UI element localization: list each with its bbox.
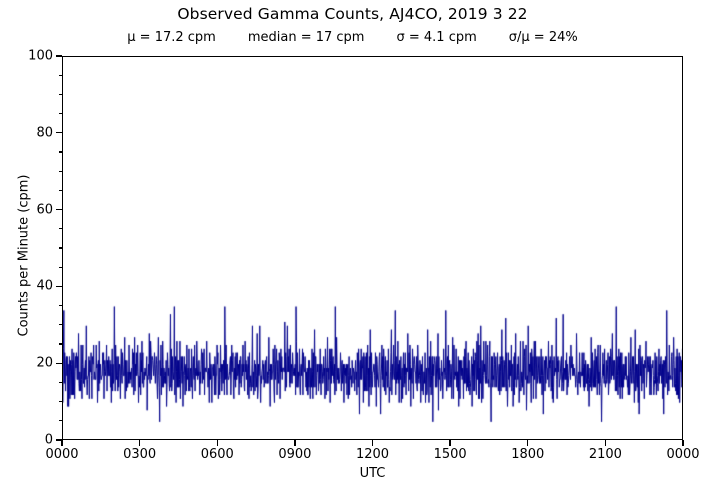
y-tick-minor bbox=[59, 113, 63, 114]
y-tick-major bbox=[56, 363, 62, 364]
chart-title: Observed Gamma Counts, AJ4CO, 2019 3 22 bbox=[0, 5, 705, 23]
y-tick-minor bbox=[59, 94, 63, 95]
x-tick-label: 1800 bbox=[511, 447, 544, 462]
y-tick-minor bbox=[59, 75, 63, 76]
y-tick-label: 0 bbox=[0, 433, 53, 448]
y-tick-label: 100 bbox=[0, 49, 53, 64]
y-tick-minor bbox=[59, 420, 63, 421]
x-tick-major bbox=[139, 440, 140, 446]
x-tick-label: 1500 bbox=[434, 447, 467, 462]
stat-stddev: σ = 4.1 cpm bbox=[396, 30, 476, 45]
x-tick-label: 0900 bbox=[278, 447, 311, 462]
chart-subtitle: μ = 17.2 cpmmedian = 17 cpmσ = 4.1 cpmσ/… bbox=[0, 30, 705, 45]
x-tick-major bbox=[527, 440, 528, 446]
y-tick-major bbox=[56, 132, 62, 133]
x-tick-label: 0000 bbox=[45, 447, 78, 462]
y-tick-minor bbox=[59, 228, 63, 229]
data-series-canvas bbox=[63, 57, 683, 440]
stat-mean: μ = 17.2 cpm bbox=[127, 30, 216, 45]
y-tick-minor bbox=[59, 267, 63, 268]
y-tick-minor bbox=[59, 305, 63, 306]
x-tick-label: 0600 bbox=[201, 447, 234, 462]
y-tick-minor bbox=[59, 190, 63, 191]
x-tick-major bbox=[61, 440, 62, 446]
x-tick-label: 2100 bbox=[589, 447, 622, 462]
y-tick-major bbox=[56, 286, 62, 287]
y-tick-minor bbox=[59, 343, 63, 344]
y-tick-major bbox=[56, 55, 62, 56]
x-tick-label: 1200 bbox=[356, 447, 389, 462]
y-tick-minor bbox=[59, 151, 63, 152]
x-tick-major bbox=[682, 440, 683, 446]
x-tick-label: 0300 bbox=[123, 447, 156, 462]
y-axis-label: Counts per Minute (cpm) bbox=[17, 136, 32, 376]
y-tick-minor bbox=[59, 382, 63, 383]
plot-area bbox=[62, 56, 683, 440]
y-tick-minor bbox=[59, 171, 63, 172]
x-tick-major bbox=[372, 440, 373, 446]
y-tick-major bbox=[56, 209, 62, 210]
x-tick-major bbox=[294, 440, 295, 446]
x-tick-label: 0000 bbox=[666, 447, 699, 462]
x-tick-major bbox=[449, 440, 450, 446]
x-tick-major bbox=[605, 440, 606, 446]
y-tick-minor bbox=[59, 324, 63, 325]
gamma-counts-chart: Observed Gamma Counts, AJ4CO, 2019 3 22 … bbox=[0, 0, 705, 489]
y-tick-minor bbox=[59, 401, 63, 402]
stat-median: median = 17 cpm bbox=[248, 30, 365, 45]
x-axis-label: UTC bbox=[62, 466, 683, 481]
stat-cv: σ/μ = 24% bbox=[509, 30, 578, 45]
x-tick-major bbox=[217, 440, 218, 446]
y-tick-minor bbox=[59, 247, 63, 248]
